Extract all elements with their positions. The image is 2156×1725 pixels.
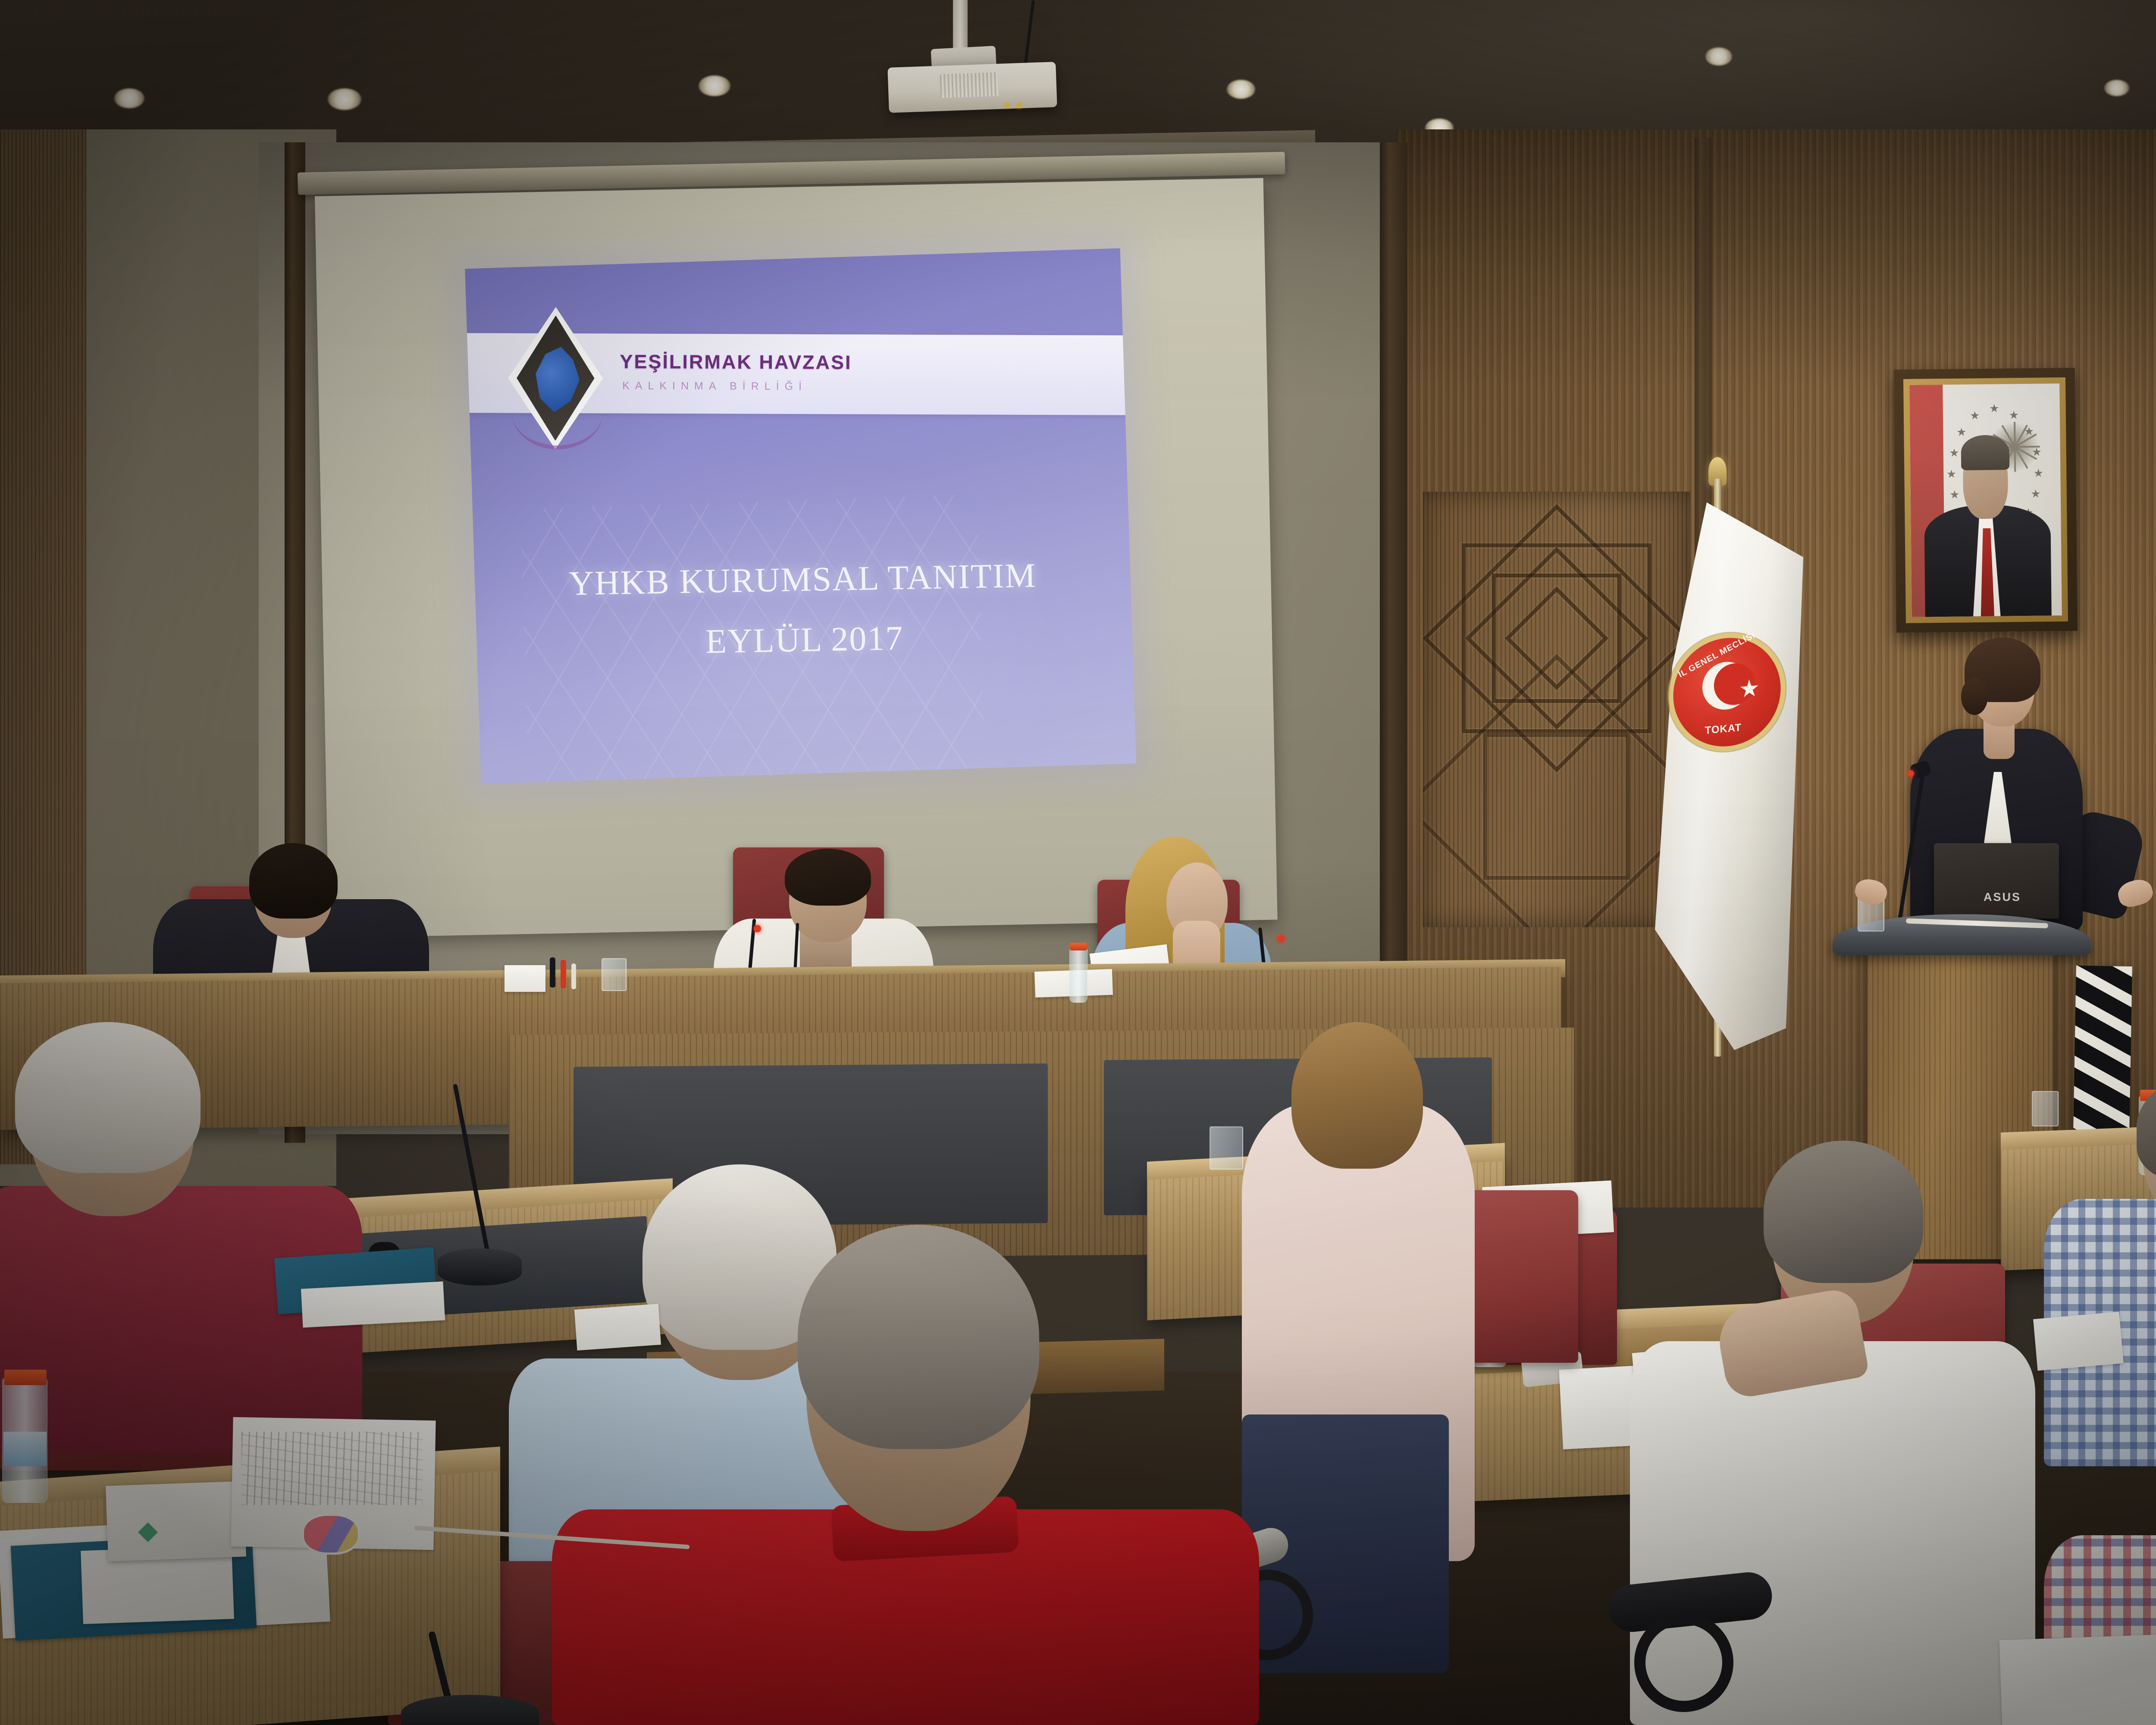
seal-star-icon: ★ xyxy=(1946,468,1957,479)
seal-star-icon: ★ xyxy=(2024,426,2034,437)
seal-star-icon: ★ xyxy=(2009,409,2019,420)
downlight-icon xyxy=(699,75,730,96)
projector-vent xyxy=(940,72,999,98)
seal-star-icon: ★ xyxy=(2031,488,2041,499)
microphone-active-led-icon xyxy=(1908,770,1914,777)
speaker-hair-bun xyxy=(1961,678,1988,715)
dais-water-glass[interactable] xyxy=(602,958,627,991)
audience-papers[interactable] xyxy=(574,1304,661,1350)
dais-pen[interactable] xyxy=(561,960,566,988)
council-chamber-photo: YEŞİLIRMAK HAVZASI KALKINMA BİRLİĞİ YHKB… xyxy=(0,0,2156,1725)
logo-subtitle-text: KALKINMA BİRLİĞİ xyxy=(622,380,807,393)
dais-person-center-hair xyxy=(785,849,871,906)
bottle-label xyxy=(3,1432,47,1466)
foreground-right-papers[interactable] xyxy=(2033,1312,2124,1371)
dais-paper[interactable] xyxy=(505,965,545,992)
carved-geometric-star-panel xyxy=(1423,492,1690,927)
projector-status-led-icon xyxy=(1005,103,1009,107)
audience-maroon-polo-hair xyxy=(15,1022,201,1173)
presentation-slide: YEŞİLIRMAK HAVZASI KALKINMA BİRLİĞİ YHKB… xyxy=(465,248,1136,784)
logo-title-text: YEŞİLIRMAK HAVZASI xyxy=(620,351,852,374)
flag-seal-bottom-text: TOKAT xyxy=(1705,721,1742,737)
chair-wheel xyxy=(1634,1613,1733,1712)
dais-microphone-led-icon xyxy=(754,925,761,932)
dais-water-bottle[interactable] xyxy=(1069,947,1087,1003)
audience-microphone-base xyxy=(438,1248,522,1286)
downlight-icon xyxy=(328,88,361,110)
audience-white-shirt-hair xyxy=(1764,1141,1923,1283)
audience-water-glass[interactable] xyxy=(2032,1091,2059,1126)
audience-pink-blazer-hair xyxy=(1291,1022,1423,1169)
bottle-cap-icon xyxy=(4,1370,47,1385)
presenter-laptop[interactable] xyxy=(1934,843,2059,919)
audience-papers[interactable] xyxy=(301,1281,445,1327)
brochure-illustration xyxy=(241,1432,423,1505)
foreground-right-papers[interactable] xyxy=(1999,1629,2156,1725)
laptop-brand-label: ASUS xyxy=(1984,891,2021,904)
seal-star-icon: ★ xyxy=(1949,447,1959,458)
seal-star-icon: ★ xyxy=(1956,426,1967,437)
seal-star-icon: ★ xyxy=(2034,467,2044,478)
dais-microphone-led-icon xyxy=(1277,935,1285,942)
framed-presidential-portrait: ★ ★ ★ ★ ★ ★ ★ ★ ★ ★ ★ ★ ★ xyxy=(1894,368,2078,633)
portrait-hair xyxy=(1961,435,2009,470)
downlight-icon xyxy=(114,88,144,108)
portrait-mat: ★ ★ ★ ★ ★ ★ ★ ★ ★ ★ ★ ★ ★ xyxy=(1903,377,2068,623)
tissue-box[interactable] xyxy=(106,1481,246,1561)
projection-screen: YEŞİLIRMAK HAVZASI KALKINMA BİRLİĞİ YHKB… xyxy=(315,178,1278,938)
downlight-icon xyxy=(1227,80,1255,99)
yhkb-logo-icon xyxy=(508,307,603,449)
seal-star-icon: ★ xyxy=(2032,446,2042,458)
bottle-cap-icon xyxy=(1070,943,1087,950)
seal-star-icon: ★ xyxy=(1989,403,1999,414)
dais-person-left-hair xyxy=(249,843,338,919)
projector-status-led-icon xyxy=(1017,103,1022,108)
downlight-icon xyxy=(1705,47,1732,66)
dais-pen[interactable] xyxy=(571,963,576,989)
audience-red-polo-hair xyxy=(798,1225,1039,1449)
downlight-icon xyxy=(2104,80,2129,96)
seal-star-icon: ★ xyxy=(1970,410,1980,421)
seal-star-icon: ★ xyxy=(1949,489,1960,500)
dais-pen[interactable] xyxy=(550,957,555,988)
audience-water-glass[interactable] xyxy=(1210,1126,1243,1170)
portrait-image: ★ ★ ★ ★ ★ ★ ★ ★ ★ ★ ★ ★ ★ xyxy=(1909,383,2062,617)
foreground-badge-icon xyxy=(302,1514,360,1555)
